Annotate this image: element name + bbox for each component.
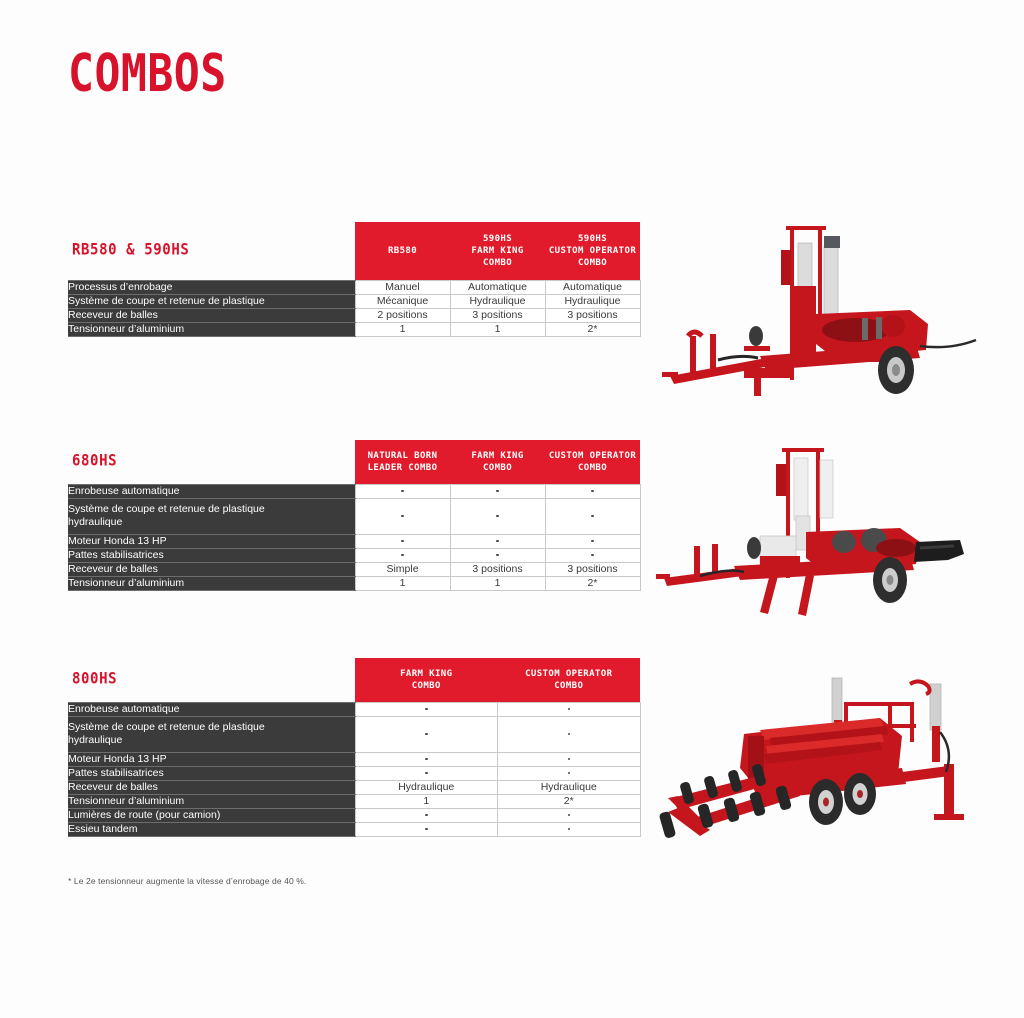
table-row: Enrobeuse automatique xyxy=(68,702,640,716)
spec-row-value xyxy=(450,534,545,548)
spec-row-value xyxy=(545,534,640,548)
spec-column-header-line: FARM KING xyxy=(450,450,545,462)
spec-row-label: Système de coupe et retenue de plastique… xyxy=(68,716,355,752)
spec-row-value xyxy=(355,484,450,498)
bullet-dot-icon xyxy=(591,490,594,493)
spec-column-header-1: FARM KINGCOMBO xyxy=(355,658,498,702)
table-row: Système de coupe et retenue de plastique… xyxy=(68,294,640,308)
spec-row-value: Hydraulique xyxy=(450,294,545,308)
table-row: Tensionneur d’aluminium12* xyxy=(68,794,640,808)
table-row: Receveur de balles2 positions3 positions… xyxy=(68,308,640,322)
bullet-dot-icon xyxy=(425,772,428,775)
table-row: Tensionneur d’aluminium112* xyxy=(68,576,640,590)
bullet-dot-icon xyxy=(425,814,428,817)
table-row: Receveur de ballesHydrauliqueHydraulique xyxy=(68,780,640,794)
spec-row-label: Pattes stabilisatrices xyxy=(68,548,355,562)
spec-block-rb580-590hs: RB580 & 590HS RB580590HSFARM KINGCOMBO59… xyxy=(68,222,640,337)
spec-row-label: Tensionneur d’aluminium xyxy=(68,794,355,808)
spec-row-value xyxy=(498,808,641,822)
spec-row-value xyxy=(450,484,545,498)
bullet-dot-icon xyxy=(591,515,594,518)
table-row: Pattes stabilisatrices xyxy=(68,548,640,562)
page-title: COMBOS xyxy=(68,44,227,104)
spec-row-label: Processus d’enrobage xyxy=(68,280,355,294)
bullet-dot-icon xyxy=(425,828,428,831)
spec-column-header-line: COMBO xyxy=(355,680,498,692)
spec-column-header-line: COMBO xyxy=(450,462,545,474)
bullet-dot-icon xyxy=(591,540,594,543)
spec-row-value: 1 xyxy=(355,322,450,336)
spec-column-header-2: FARM KINGCOMBO xyxy=(450,440,545,484)
spec-row-value xyxy=(450,548,545,562)
spec-column-header-2: CUSTOM OPERATORCOMBO xyxy=(498,658,641,702)
spec-column-header-1: RB580 xyxy=(355,222,450,280)
spec-row-value: Hydraulique xyxy=(498,780,641,794)
spec-column-header-line: 590HS xyxy=(545,233,640,245)
bullet-dot-icon xyxy=(401,554,404,557)
spec-column-header-line: FARM KING xyxy=(355,668,498,680)
table-row: Lumières de route (pour camion) xyxy=(68,808,640,822)
spec-row-value xyxy=(355,766,498,780)
spec-row-label: Essieu tandem xyxy=(68,822,355,836)
spec-column-header-line: CUSTOM OPERATOR xyxy=(545,450,640,462)
spec-row-value xyxy=(355,822,498,836)
bullet-dot-icon xyxy=(568,772,571,775)
bullet-dot-icon xyxy=(496,490,499,493)
spec-block-680hs: 680HS NATURAL BORNLEADER COMBOFARM KINGC… xyxy=(68,440,640,591)
spec-row-value: 1 xyxy=(450,322,545,336)
spec-row-value xyxy=(545,548,640,562)
spec-row-label: Moteur Honda 13 HP xyxy=(68,534,355,548)
spec-row-value: 2 positions xyxy=(355,308,450,322)
footnote-text: * Le 2e tensionneur augmente la vitesse … xyxy=(68,876,306,886)
spec-row-value xyxy=(545,498,640,534)
spec-row-value xyxy=(498,752,641,766)
spec-column-header-line: COMBO xyxy=(545,462,640,474)
spec-row-value: Hydraulique xyxy=(545,294,640,308)
bullet-dot-icon xyxy=(496,554,499,557)
spec-row-label: Enrobeuse automatique xyxy=(68,702,355,716)
spec-row-value xyxy=(355,548,450,562)
table-row: Pattes stabilisatrices xyxy=(68,766,640,780)
spec-row-value xyxy=(498,766,641,780)
combos-spec-sheet-page: COMBOS RB580 & 590HS RB580590HSFARM KING… xyxy=(0,0,1024,1018)
rb580-590hs-bale-wrapper-photo xyxy=(648,218,978,408)
spec-block-800hs: 800HS FARM KINGCOMBOCUSTOM OPERATORCOMBO… xyxy=(68,658,640,837)
spec-row-label: Receveur de balles xyxy=(68,780,355,794)
800hs-bale-wrapper-photo xyxy=(648,672,978,862)
bullet-dot-icon xyxy=(568,758,571,761)
spec-row-value xyxy=(355,752,498,766)
spec-column-header-line: LEADER COMBO xyxy=(355,462,450,474)
spec-column-header-line: NATURAL BORN xyxy=(355,450,450,462)
spec-column-header-line: COMBO xyxy=(545,257,640,269)
spec-row-value xyxy=(498,822,641,836)
spec-row-value: 2* xyxy=(498,794,641,808)
spec-row-value: 1 xyxy=(355,576,450,590)
spec-row-label: Système de coupe et retenue de plastique xyxy=(68,294,355,308)
spec-column-header-line: COMBO xyxy=(450,257,545,269)
spec-row-value xyxy=(498,716,641,752)
spec-column-header-line: CUSTOM OPERATOR xyxy=(545,245,640,257)
spec-row-value: Manuel xyxy=(355,280,450,294)
bullet-dot-icon xyxy=(401,540,404,543)
table-row: Système de coupe et retenue de plastique… xyxy=(68,716,640,752)
spec-row-value: Mécanique xyxy=(355,294,450,308)
table-row: Moteur Honda 13 HP xyxy=(68,752,640,766)
spec-row-value: 1 xyxy=(355,794,498,808)
spec-row-label: Receveur de balles xyxy=(68,562,355,576)
spec-row-value: 3 positions xyxy=(545,562,640,576)
spec-column-header-2: 590HSFARM KINGCOMBO xyxy=(450,222,545,280)
spec-table-rb580-590hs: RB580590HSFARM KINGCOMBO590HSCUSTOM OPER… xyxy=(68,222,641,337)
spec-row-label: Receveur de balles xyxy=(68,308,355,322)
spec-row-value xyxy=(498,702,641,716)
spec-table-800hs: FARM KINGCOMBOCUSTOM OPERATORCOMBOEnrobe… xyxy=(68,658,641,837)
spec-row-value: 1 xyxy=(450,576,545,590)
spec-row-label: Tensionneur d’aluminium xyxy=(68,576,355,590)
bullet-dot-icon xyxy=(568,828,571,831)
spec-column-header-line: COMBO xyxy=(498,680,641,692)
bullet-dot-icon xyxy=(425,758,428,761)
spec-row-value xyxy=(355,534,450,548)
spec-row-label: Enrobeuse automatique xyxy=(68,484,355,498)
table-row: Système de coupe et retenue de plastique… xyxy=(68,498,640,534)
spec-row-value: Hydraulique xyxy=(355,780,498,794)
spec-row-label: Tensionneur d’aluminium xyxy=(68,322,355,336)
spec-row-label: Pattes stabilisatrices xyxy=(68,766,355,780)
spec-row-value: 2* xyxy=(545,322,640,336)
spec-row-value xyxy=(355,716,498,752)
spec-row-value: 3 positions xyxy=(450,562,545,576)
spec-row-value xyxy=(545,484,640,498)
spec-table-header-row: FARM KINGCOMBOCUSTOM OPERATORCOMBO xyxy=(68,658,640,702)
bullet-dot-icon xyxy=(568,708,571,711)
spec-column-header-3: CUSTOM OPERATORCOMBO xyxy=(545,440,640,484)
spec-row-value xyxy=(450,498,545,534)
spec-row-value: Automatique xyxy=(545,280,640,294)
table-row: Processus d’enrobageManuelAutomatiqueAut… xyxy=(68,280,640,294)
680hs-bale-wrapper-photo xyxy=(648,444,978,624)
table-row: Receveur de ballesSimple3 positions3 pos… xyxy=(68,562,640,576)
bullet-dot-icon xyxy=(568,814,571,817)
spec-row-value xyxy=(355,808,498,822)
spec-row-value: Simple xyxy=(355,562,450,576)
spec-block-title-800hs: 800HS xyxy=(72,670,117,688)
bullet-dot-icon xyxy=(496,540,499,543)
spec-column-header-1: NATURAL BORNLEADER COMBO xyxy=(355,440,450,484)
spec-row-value: Automatique xyxy=(450,280,545,294)
spec-column-header-3: 590HSCUSTOM OPERATORCOMBO xyxy=(545,222,640,280)
spec-row-value xyxy=(355,498,450,534)
spec-table-680hs: NATURAL BORNLEADER COMBOFARM KINGCOMBOCU… xyxy=(68,440,641,591)
spec-block-title-rb580-590hs: RB580 & 590HS xyxy=(72,241,189,259)
spec-row-value xyxy=(355,702,498,716)
bullet-dot-icon xyxy=(401,490,404,493)
spec-row-value: 3 positions xyxy=(545,308,640,322)
spec-row-value: 2* xyxy=(545,576,640,590)
bullet-dot-icon xyxy=(568,733,571,736)
spec-column-header-line: CUSTOM OPERATOR xyxy=(498,668,641,680)
spec-row-label: Moteur Honda 13 HP xyxy=(68,752,355,766)
spec-table-header-row: NATURAL BORNLEADER COMBOFARM KINGCOMBOCU… xyxy=(68,440,640,484)
bullet-dot-icon xyxy=(496,515,499,518)
spec-column-header-line: FARM KING xyxy=(450,245,545,257)
bullet-dot-icon xyxy=(425,708,428,711)
bullet-dot-icon xyxy=(591,554,594,557)
table-row: Enrobeuse automatique xyxy=(68,484,640,498)
table-row: Moteur Honda 13 HP xyxy=(68,534,640,548)
spec-row-label: Lumières de route (pour camion) xyxy=(68,808,355,822)
bullet-dot-icon xyxy=(401,515,404,518)
spec-row-value: 3 positions xyxy=(450,308,545,322)
table-row: Essieu tandem xyxy=(68,822,640,836)
spec-block-title-680hs: 680HS xyxy=(72,452,117,470)
bullet-dot-icon xyxy=(425,733,428,736)
table-row: Tensionneur d’aluminium112* xyxy=(68,322,640,336)
spec-column-header-line: 590HS xyxy=(450,233,545,245)
spec-column-header-line: RB580 xyxy=(355,245,450,257)
spec-row-label: Système de coupe et retenue de plastique… xyxy=(68,498,355,534)
